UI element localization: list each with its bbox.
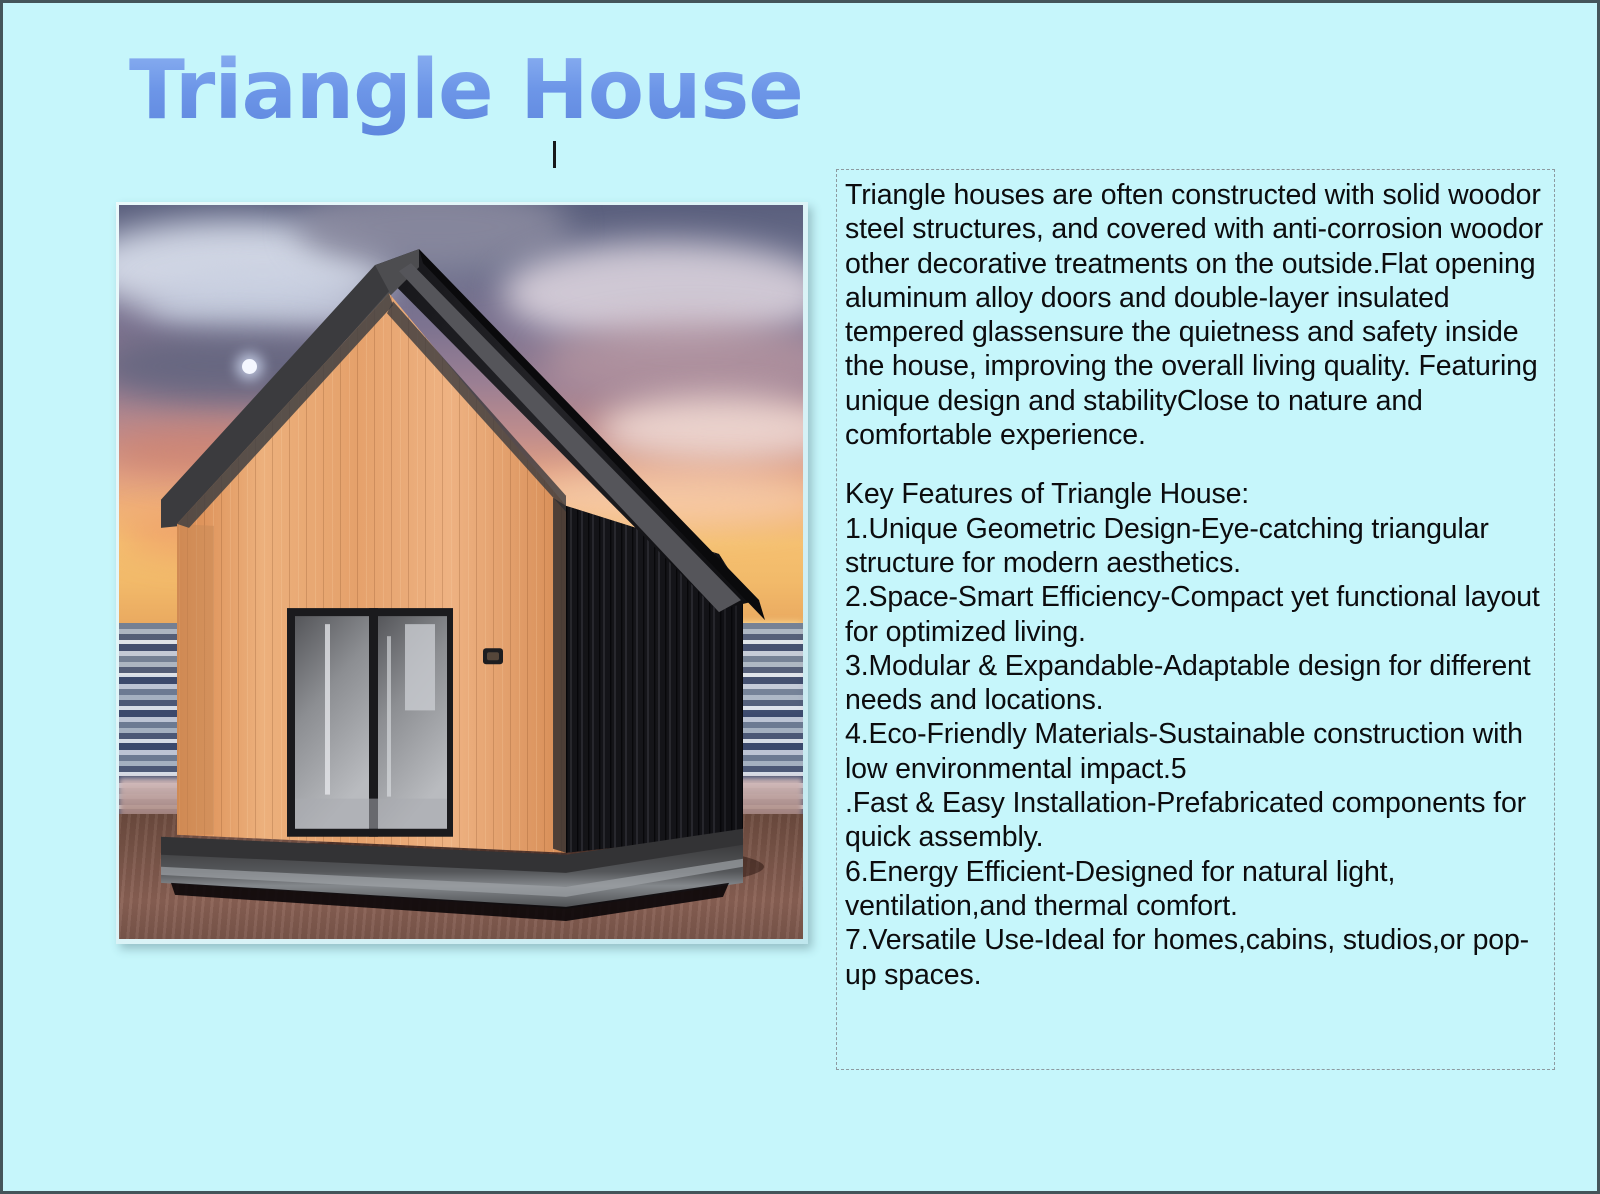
description-panel[interactable]: Triangle houses are often constructed wi… <box>836 169 1555 1070</box>
slide-canvas: Triangle House <box>0 0 1600 1194</box>
features-body: 1.Unique Geometric Design-Eye-catching t… <box>845 512 1548 992</box>
text-cursor-caret <box>553 141 556 168</box>
paragraph-spacer <box>845 452 1548 477</box>
triangle-house-illustration <box>119 205 803 939</box>
page-title[interactable]: Triangle House <box>129 41 829 141</box>
house-photo-frame[interactable] <box>116 202 808 944</box>
wall-light-fixture <box>483 648 503 664</box>
house-photo[interactable] <box>119 205 803 939</box>
description-paragraph: Triangle houses are often constructed wi… <box>845 178 1548 452</box>
features-heading: Key Features of Triangle House: <box>845 477 1548 511</box>
sliding-glass-door <box>287 608 453 837</box>
title-container[interactable]: Triangle House <box>129 41 829 141</box>
